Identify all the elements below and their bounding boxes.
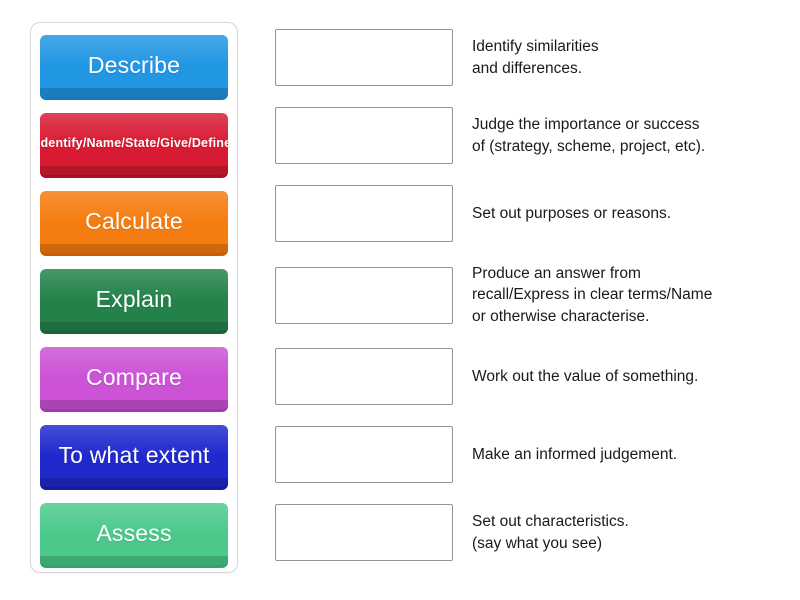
definition-text: Work out the value of something.: [472, 366, 785, 387]
definition-text: Identify similarities and differences.: [472, 36, 785, 79]
match-row: Work out the value of something.: [275, 348, 785, 405]
match-row: Judge the importance or success of (stra…: [275, 107, 785, 164]
draggable-tile-6[interactable]: To what extent: [40, 425, 228, 487]
match-row: Produce an answer from recall/Express in…: [275, 263, 785, 327]
definition-text: Set out purposes or reasons.: [472, 203, 785, 224]
tile-label: Compare: [86, 365, 182, 390]
definition-text: Set out characteristics. (say what you s…: [472, 511, 785, 554]
draggable-tile-panel: DescribeIdentify/Name/State/Give/DefineC…: [30, 22, 238, 573]
match-row: Set out purposes or reasons.: [275, 185, 785, 242]
drop-zone-3[interactable]: [275, 185, 453, 242]
tile-label: Assess: [96, 521, 171, 546]
draggable-tile-4[interactable]: Explain: [40, 269, 228, 331]
draggable-tile-3[interactable]: Calculate: [40, 191, 228, 253]
drop-zone-5[interactable]: [275, 348, 453, 405]
definition-text: Produce an answer from recall/Express in…: [472, 263, 785, 327]
match-row: Identify similarities and differences.: [275, 29, 785, 86]
draggable-tile-2[interactable]: Identify/Name/State/Give/Define: [40, 113, 228, 175]
drop-zone-1[interactable]: [275, 29, 453, 86]
draggable-tile-7[interactable]: Assess: [40, 503, 228, 565]
tile-label: To what extent: [58, 443, 209, 468]
definition-text: Judge the importance or success of (stra…: [472, 114, 785, 157]
tile-label: Calculate: [85, 209, 183, 234]
draggable-tile-5[interactable]: Compare: [40, 347, 228, 409]
match-row: Make an informed judgement.: [275, 426, 785, 483]
match-row: Set out characteristics. (say what you s…: [275, 504, 785, 561]
definition-text: Make an informed judgement.: [472, 444, 785, 465]
drop-zone-4[interactable]: [275, 267, 453, 324]
draggable-tile-1[interactable]: Describe: [40, 35, 228, 97]
tile-label: Describe: [88, 53, 180, 78]
drop-zone-6[interactable]: [275, 426, 453, 483]
drop-zone-7[interactable]: [275, 504, 453, 561]
tile-label: Identify/Name/State/Give/Define: [37, 137, 231, 151]
tile-label: Explain: [96, 287, 173, 312]
drop-zone-2[interactable]: [275, 107, 453, 164]
match-row-list: Identify similarities and differences.Ju…: [275, 29, 785, 561]
match-up-activity: DescribeIdentify/Name/State/Give/DefineC…: [0, 0, 800, 600]
